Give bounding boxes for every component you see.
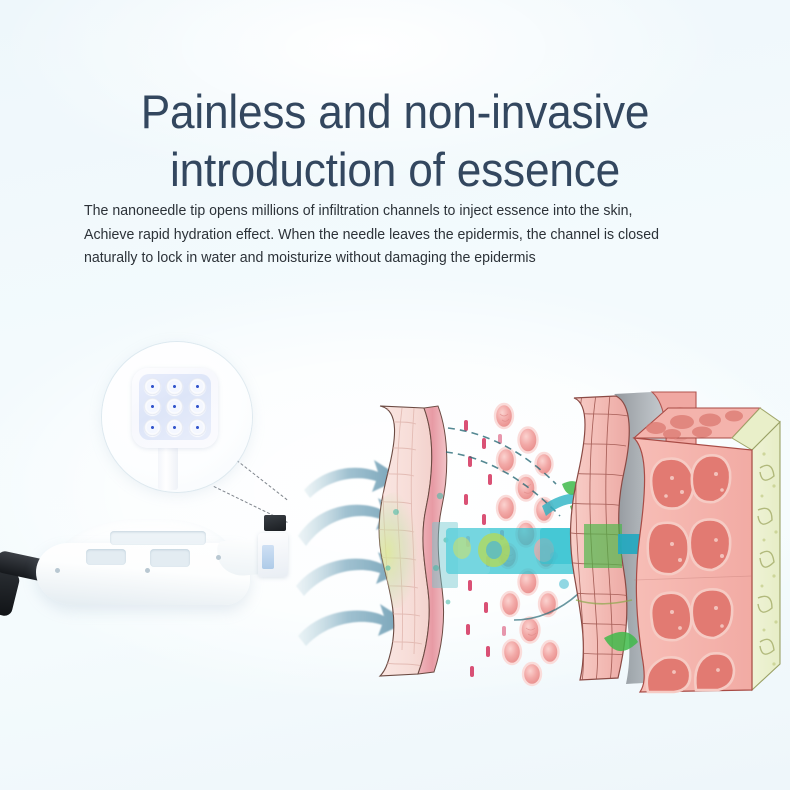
headline-line-1: Painless and non-invasive: [24, 83, 767, 141]
paragraph-line-2: Achieve rapid hydration effect. When the…: [84, 224, 736, 248]
essence-absorption-patch: [584, 524, 622, 568]
illustration-area: [0, 300, 790, 720]
cartridge-stem: [158, 446, 178, 490]
needle-pin: [189, 419, 206, 436]
needle-pin: [189, 398, 206, 415]
cartridge-window: [262, 545, 274, 569]
description-paragraph: The nanoneedle tip opens millions of inf…: [84, 200, 736, 271]
epidermis-cross-section: [370, 400, 438, 675]
paragraph-line-1: The nanoneedle tip opens millions of inf…: [84, 200, 736, 224]
handpiece-screw-1: [55, 568, 60, 573]
needle-pin: [166, 419, 183, 436]
needle-pin: [144, 419, 161, 436]
headline-line-2: introduction of essence: [24, 141, 767, 199]
handpiece-rail: [110, 531, 206, 545]
subcutaneous-tissue-block: [628, 398, 778, 688]
needle-pin: [189, 378, 206, 395]
handpiece-screw-2: [145, 568, 150, 573]
cartridge-tip: [264, 515, 286, 531]
needle-pin: [166, 398, 183, 415]
handpiece-screw-3: [216, 555, 221, 560]
leader-line-1: [236, 460, 287, 500]
needle-pin: [144, 398, 161, 415]
handpiece-vent-1: [86, 549, 126, 565]
block-side-face: [752, 422, 780, 690]
cartridge-body: [132, 368, 218, 448]
magnifier-inset: [102, 342, 252, 492]
needle-pin: [166, 378, 183, 395]
product-feature-banner: Painless and non-invasive introduction o…: [0, 0, 790, 790]
paragraph-line-3: naturally to lock in water and moisturiz…: [84, 247, 736, 271]
page-title: Painless and non-invasive introduction o…: [24, 83, 767, 199]
needle-pin-grid: [139, 374, 211, 440]
handpiece-device: [0, 515, 300, 635]
needle-pin: [144, 378, 161, 395]
handpiece-vent-2: [150, 549, 190, 567]
